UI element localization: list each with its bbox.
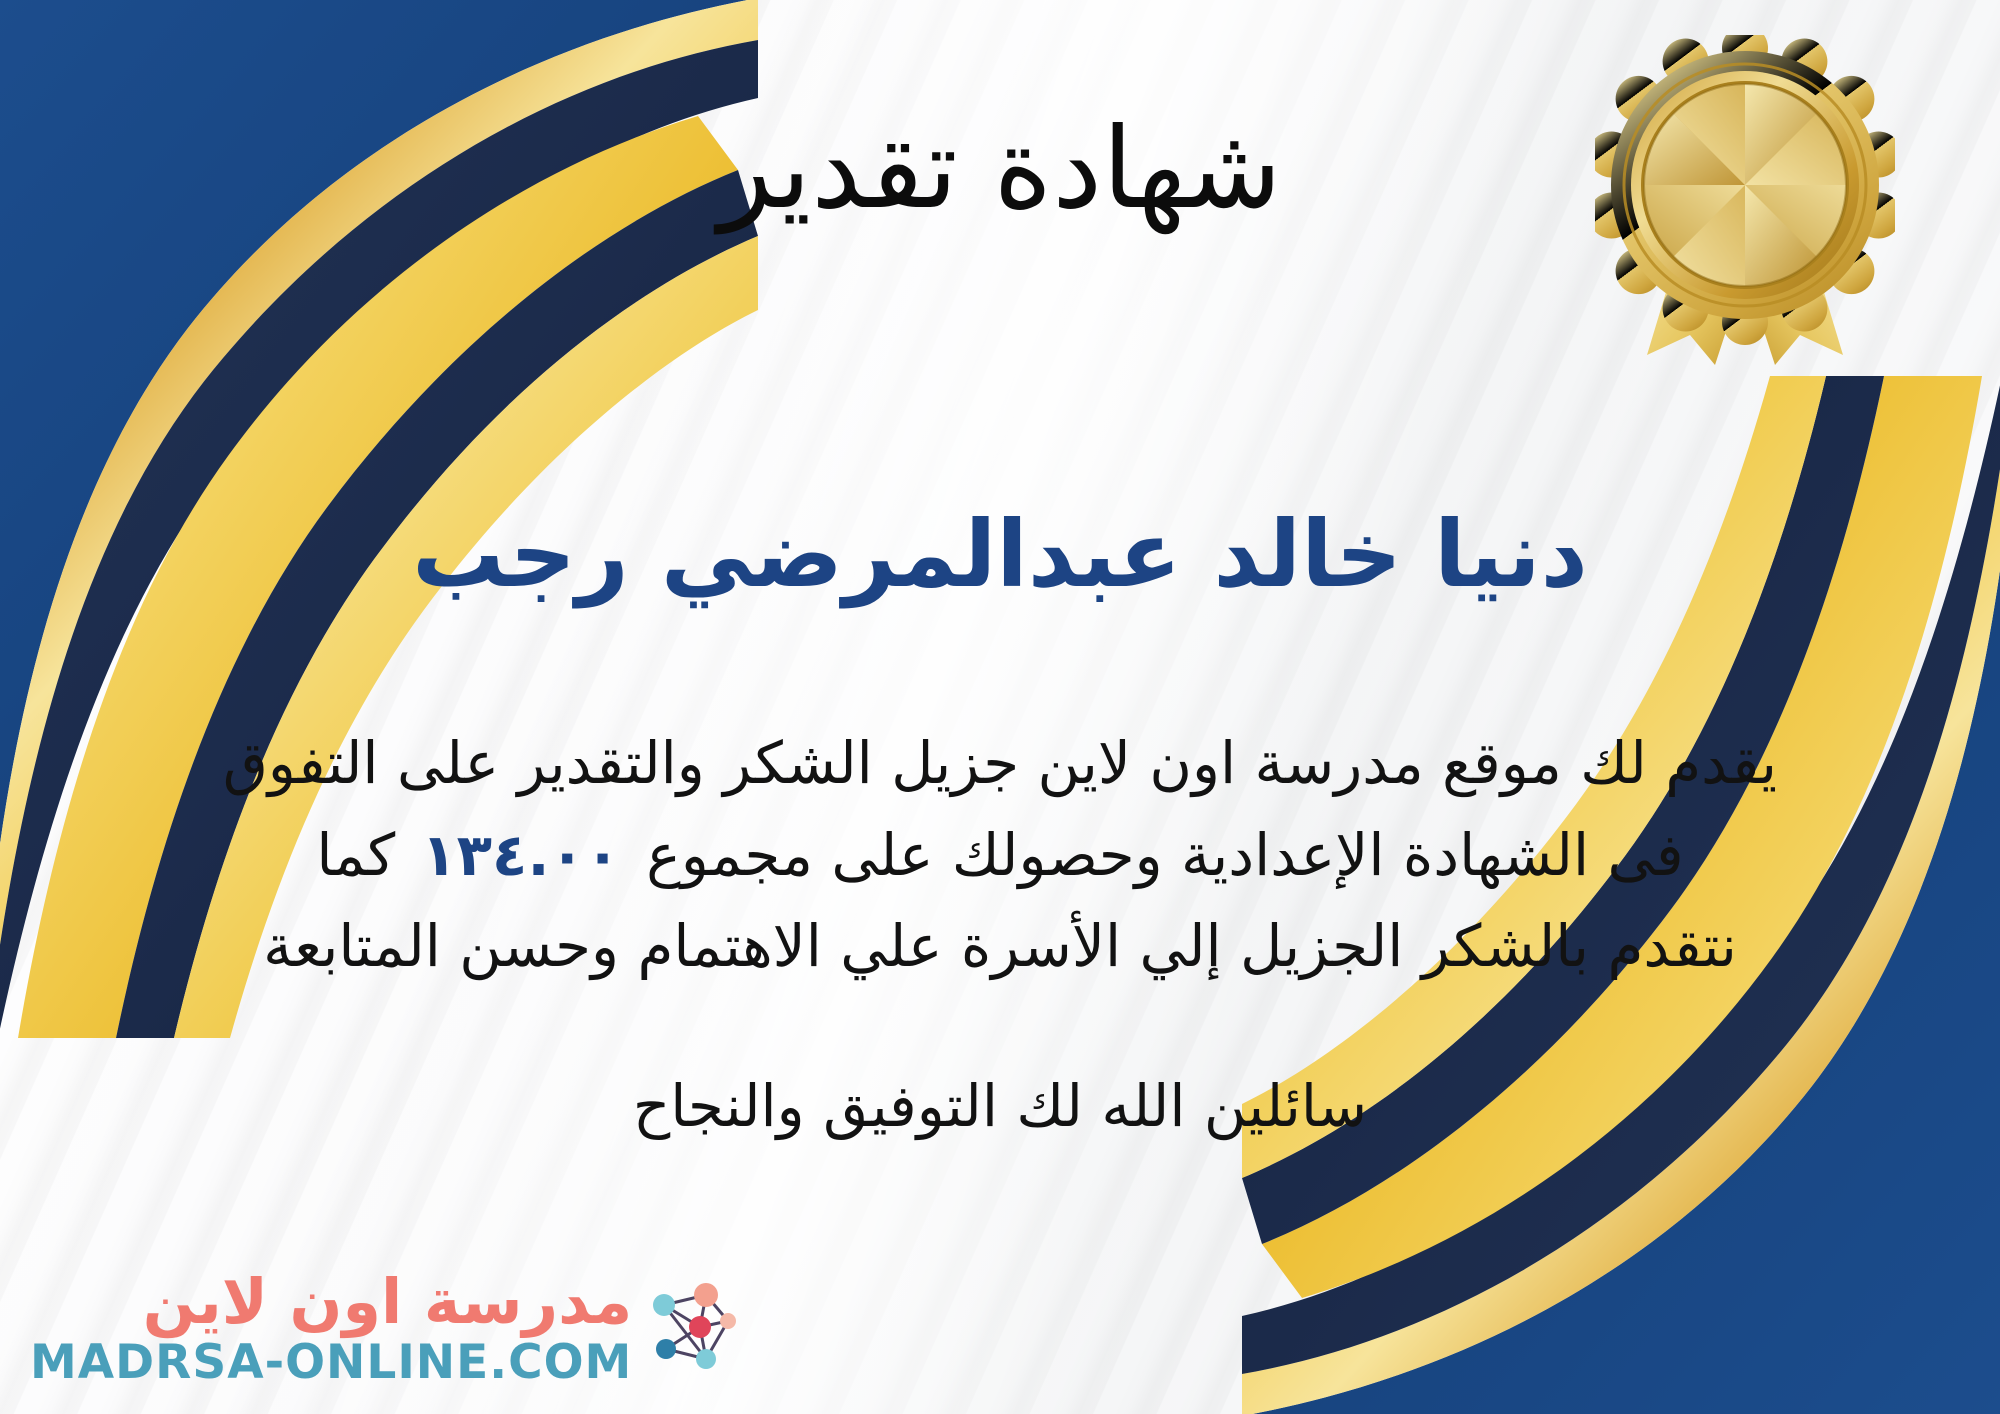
citation-line-2-prefix: فى الشهادة الإعدادية وحصولك على مجموع xyxy=(646,821,1683,889)
citation-line-2: فى الشهادة الإعدادية وحصولك على مجموع١٣٤… xyxy=(60,810,1940,902)
brand-website: MADRSA-ONLINE.COM xyxy=(30,1339,632,1386)
citation-line-3: نتقدم بالشكر الجزيل إلي الأسرة علي الاهت… xyxy=(60,901,1940,993)
closing-wish: سائلين الله لك التوفيق والنجاح xyxy=(0,1072,2000,1140)
brand-logo[interactable]: مدرسة اون لاين MADRSA-ONLINE.COM xyxy=(30,1271,740,1386)
page-title: شهادة تقدير xyxy=(0,105,2000,234)
network-nodes-icon xyxy=(644,1277,740,1381)
recipient-name: دنيا خالد عبدالمرضي رجب xyxy=(0,500,2000,610)
citation-line-2-suffix: كما xyxy=(316,821,395,889)
citation-body: يقدم لك موقع مدرسة اون لاين جزيل الشكر و… xyxy=(60,718,1940,993)
brand-text-block: مدرسة اون لاين MADRSA-ONLINE.COM xyxy=(30,1271,632,1386)
citation-line-1: يقدم لك موقع مدرسة اون لاين جزيل الشكر و… xyxy=(60,718,1940,810)
brand-arabic-name: مدرسة اون لاين xyxy=(30,1271,632,1333)
grade-total-value: ١٣٤.٠٠ xyxy=(395,821,646,889)
certificate-page: شهادة تقدير دنيا خالد عبدالمرضي رجب يقدم… xyxy=(0,0,2000,1414)
